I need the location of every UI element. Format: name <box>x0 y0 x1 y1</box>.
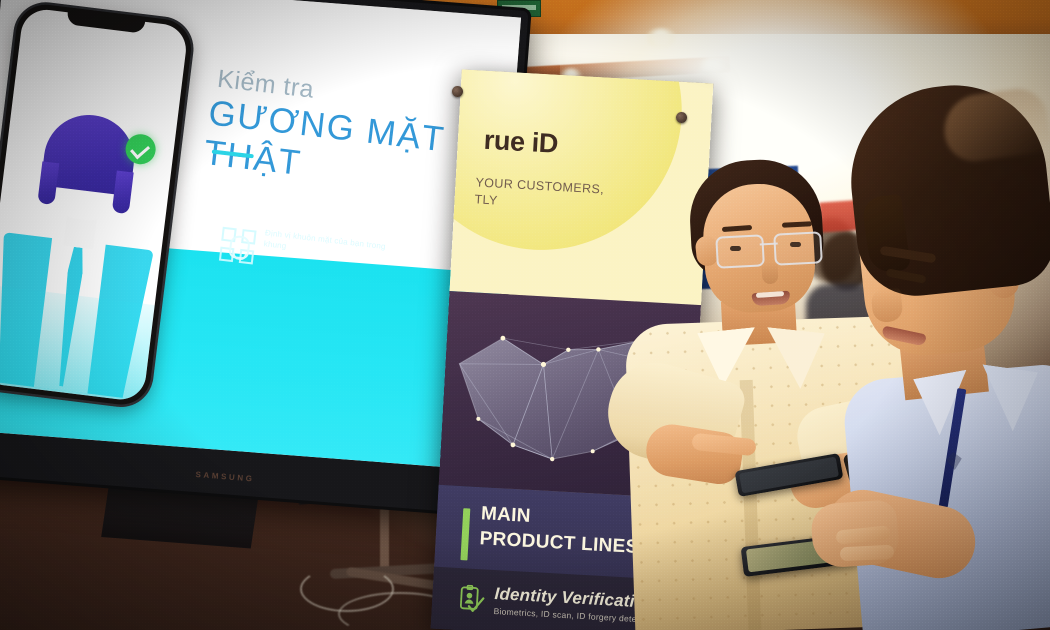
products-heading: MAIN PRODUCT LINES <box>479 501 641 560</box>
photo-scene: hcombank <box>0 0 1050 630</box>
banner-yellow-circle <box>449 69 689 257</box>
man-right-finger <box>840 545 895 562</box>
banner-rivet <box>676 112 687 123</box>
banner-rivet <box>452 86 463 97</box>
id-card-check-icon <box>455 584 487 616</box>
brand-logo: rue iD <box>483 125 559 160</box>
face-scan-icon <box>219 227 257 265</box>
face-outline-icon <box>228 235 251 260</box>
man-left-nose <box>761 262 778 285</box>
brand-tagline: YOUR CUSTOMERS, TLY <box>474 174 604 215</box>
phone-bottom-gradient <box>0 285 155 403</box>
banner-header-panel: rue iD YOUR CUSTOMERS, TLY <box>449 69 713 305</box>
avatar-hair <box>40 110 139 196</box>
